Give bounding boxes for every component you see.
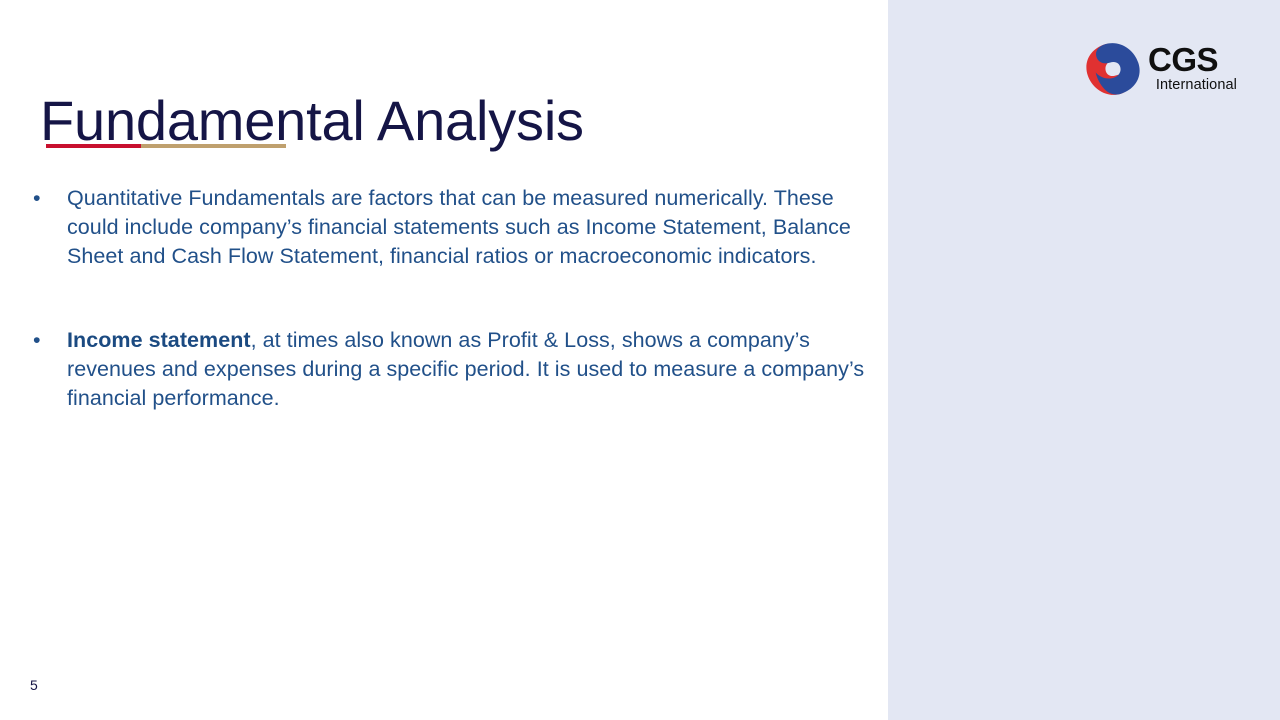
bullet-marker-icon: • bbox=[28, 326, 67, 355]
logo-cgs-text: CGS bbox=[1148, 42, 1238, 77]
side-decoration-panel bbox=[888, 0, 1280, 720]
rule-segment-tan bbox=[141, 144, 286, 148]
bullet-marker-icon: • bbox=[28, 184, 67, 213]
slide-canvas: CGS International Fundamental Analysis •… bbox=[0, 0, 1280, 720]
list-item: • Income statement, at times also known … bbox=[28, 326, 868, 414]
bullet-paragraph-income-statement: Income statement, at times also known as… bbox=[67, 326, 867, 414]
rule-segment-red bbox=[46, 144, 141, 148]
bullet-bold-lead: Income statement bbox=[67, 328, 251, 352]
cgs-swirl-icon bbox=[1084, 40, 1142, 98]
list-item: • Quantitative Fundamentals are factors … bbox=[28, 184, 868, 272]
bullet-list: • Quantitative Fundamentals are factors … bbox=[28, 184, 868, 413]
logo-wordmark: CGS International bbox=[1148, 42, 1238, 94]
logo-international-text: International bbox=[1148, 77, 1238, 94]
cgs-international-logo: CGS International bbox=[1084, 38, 1236, 102]
title-underline-rule bbox=[46, 144, 286, 148]
page-number: 5 bbox=[30, 676, 38, 694]
bullet-paragraph-quantitative-fundamentals: Quantitative Fundamentals are factors th… bbox=[67, 184, 857, 272]
